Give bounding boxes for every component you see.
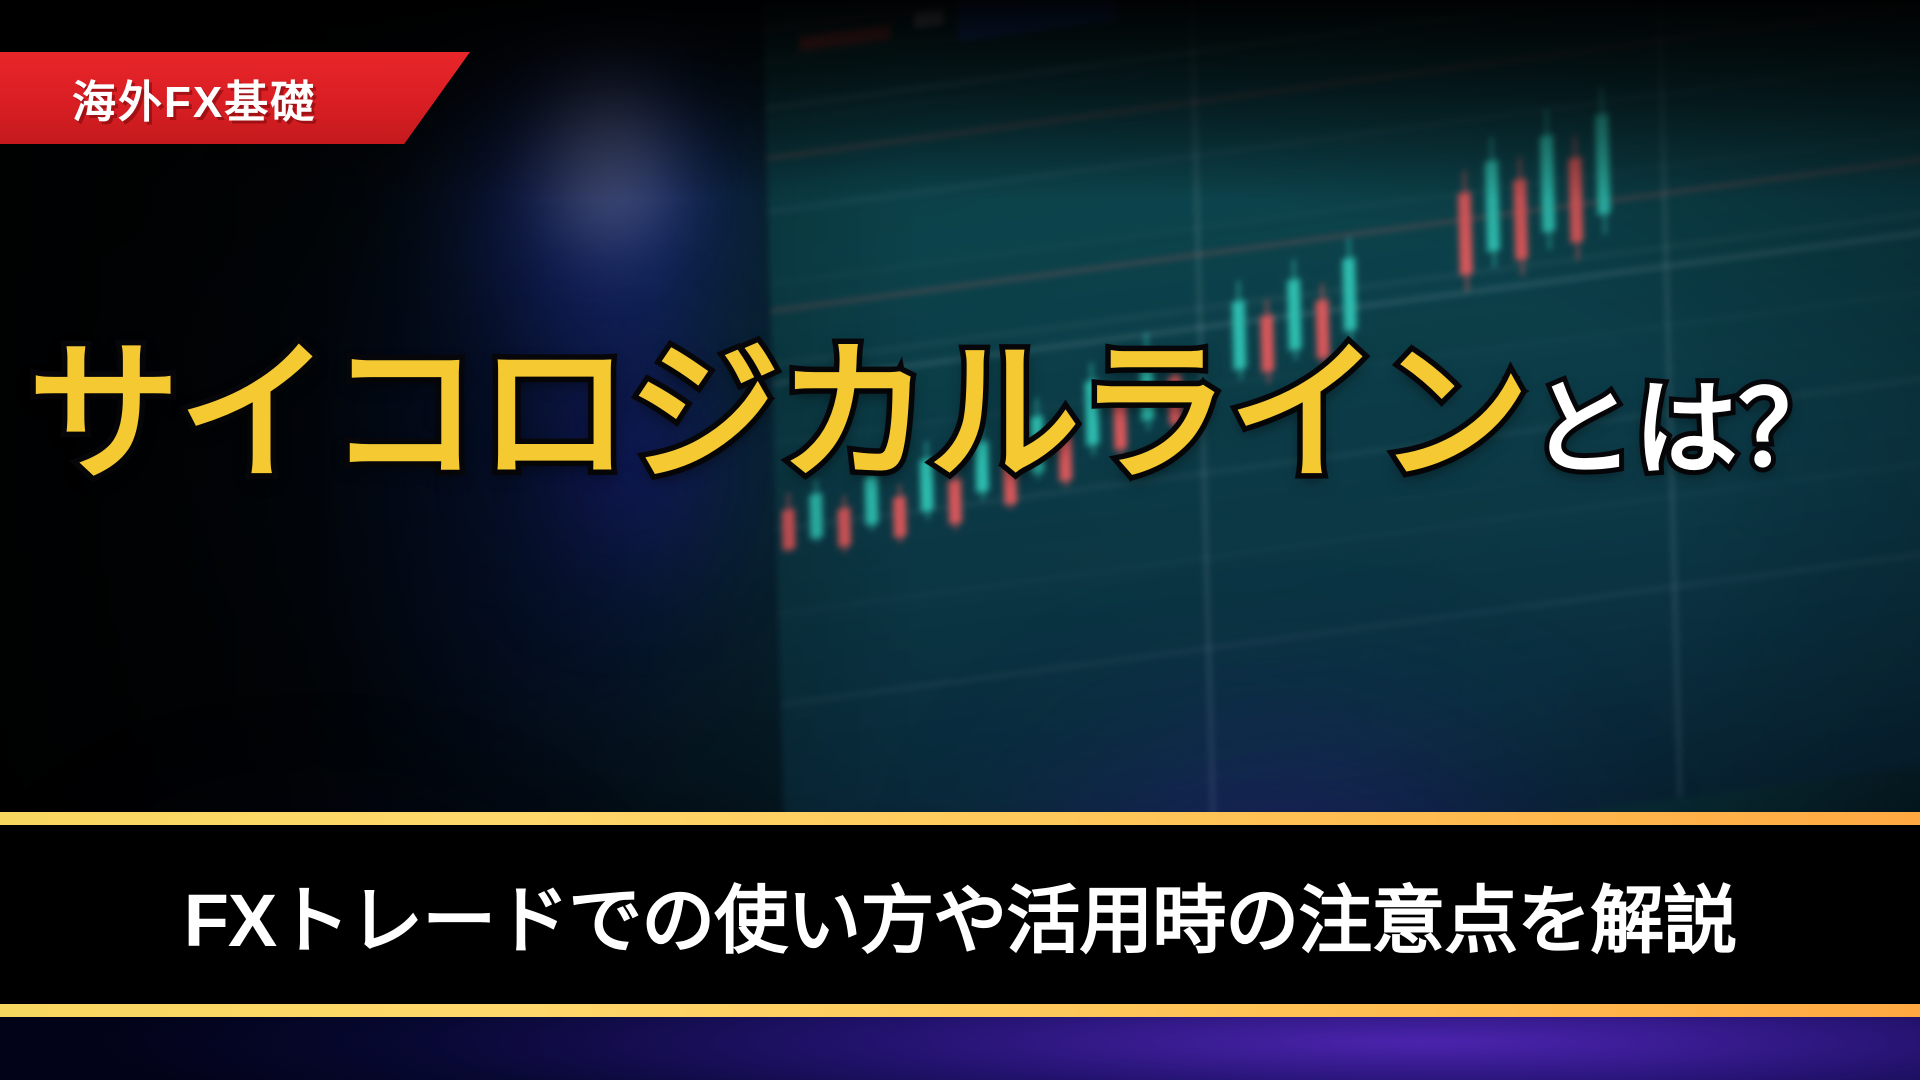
subtitle-band: FXトレードでの使い方や活用時の注意点を解説 <box>0 825 1920 1004</box>
category-badge: 海外FX基礎 <box>0 52 470 144</box>
category-badge-label: 海外FX基礎 <box>72 66 316 130</box>
gold-rule-bottom <box>0 1004 1920 1017</box>
footer-strip <box>0 1017 1920 1080</box>
page-title-main: サイコロジカルライン <box>28 338 1528 490</box>
page-title-suffix: とは？ <box>1530 378 1842 490</box>
page-title: サイコロジカルライン とは？ <box>28 338 1908 490</box>
thumbnail-canvas: 海外FX基礎 サイコロジカルライン とは？ FXトレードでの使い方や活用時の注意… <box>0 0 1920 1080</box>
subtitle-text: FXトレードでの使い方や活用時の注意点を解説 <box>184 861 1737 968</box>
gold-rule-top <box>0 812 1920 825</box>
